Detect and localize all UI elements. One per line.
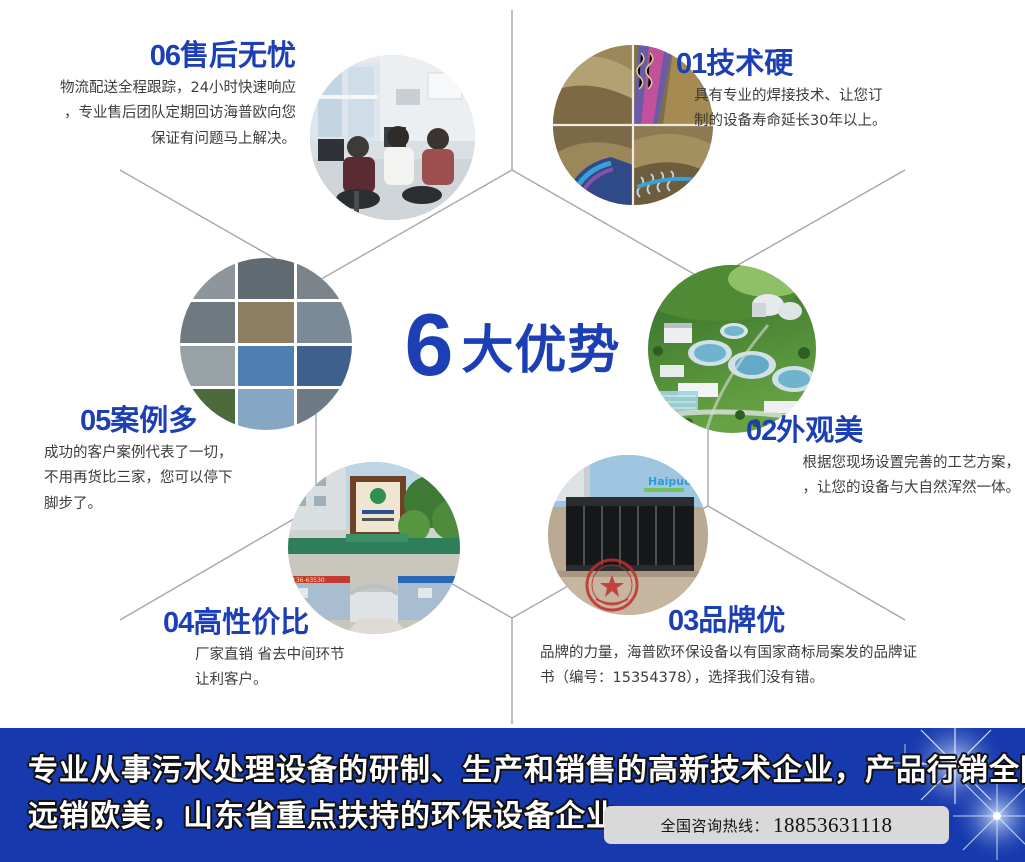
feature-05-desc-line: 脚步了。 [44, 492, 344, 517]
feature-05-name: 案例多 [110, 403, 197, 437]
feature-01-name: 技术硬 [706, 46, 793, 80]
photo-black-tank-equipment: Haipuou [548, 455, 708, 615]
feature-06-desc: 物流配送全程跟踪，24小时快速响应 ，专业售后团队定期回访海普欧向您 保证有问题… [4, 76, 296, 152]
feature-06-desc-line: 保证有问题马上解决。 [4, 127, 296, 152]
plant-aerial-art [648, 265, 816, 433]
feature-01-desc: 具有专业的焊接技术、让您订 制的设备寿命延长30年以上。 [694, 84, 996, 135]
feature-06-desc-line: 物流配送全程跟踪，24小时快速响应 [4, 76, 296, 101]
office-photo-art [310, 55, 475, 220]
feature-03-number: 03 [668, 605, 698, 637]
feature-02: 02外观美 根据您现场设置完善的工艺方案， ，让您的设备与大自然浑然一体。 [690, 415, 1020, 502]
feature-03-desc-line: 书（编号：15354378），选择我们没有错。 [540, 666, 1010, 691]
photo-office-staff [310, 55, 475, 220]
hotline-number: 18853631118 [773, 813, 892, 838]
feature-05-desc-line: 成功的客户案例代表了一切， [44, 441, 344, 466]
feature-04-name: 高性价比 [193, 605, 309, 639]
feature-06-name: 售后无忧 [180, 38, 296, 72]
feature-02-number: 02 [746, 415, 776, 447]
feature-02-desc-line: ，让您的设备与大自然浑然一体。 [690, 476, 1020, 501]
feature-04-desc-line: 让利客户。 [195, 668, 493, 693]
feature-04-title: 04高性价比 [163, 607, 493, 640]
feature-05-desc: 成功的客户案例代表了一切， 不用再货比三家，您可以停下 脚步了。 [44, 441, 344, 517]
feature-02-name: 外观美 [776, 413, 863, 447]
feature-01: 01技术硬 具有专业的焊接技术、让您订 制的设备寿命延长30年以上。 [676, 48, 996, 135]
feature-06: 06售后无忧 物流配送全程跟踪，24小时快速响应 ，专业售后团队定期回访海普欧向… [4, 40, 296, 152]
feature-01-title: 01技术硬 [676, 48, 996, 81]
feature-04-desc: 厂家直销 省去中间环节 让利客户。 [195, 643, 493, 694]
feature-05: 05案例多 成功的客户案例代表了一切， 不用再货比三家，您可以停下 脚步了。 [44, 405, 344, 517]
feature-05-title: 05案例多 [44, 405, 344, 438]
feature-05-number: 05 [80, 405, 110, 437]
feature-03: 03品牌优 品牌的力量，海普欧环保设备以有国家商标局案发的品牌证 书（编号：15… [540, 605, 1010, 692]
feature-04-desc-line: 厂家直销 省去中间环节 [195, 643, 493, 668]
banner-line-1: 专业从事污水处理设备的研制、生产和销售的高新技术企业，产品行销全国并 [28, 748, 628, 794]
feature-06-desc-line: ，专业售后团队定期回访海普欧向您 [4, 101, 296, 126]
feature-01-desc-line: 制的设备寿命延长30年以上。 [694, 109, 996, 134]
feature-03-desc: 品牌的力量，海普欧环保设备以有国家商标局案发的品牌证 书（编号：15354378… [540, 641, 1010, 692]
feature-03-title: 03品牌优 [540, 605, 1010, 638]
feature-02-desc: 根据您现场设置完善的工艺方案， ，让您的设备与大自然浑然一体。 [690, 451, 1020, 502]
center-big-number: 6 [405, 305, 452, 384]
center-label: 大优势 [461, 308, 620, 383]
infographic-root: Haipuou [0, 0, 1025, 862]
banner-line-2: 远销欧美，山东省重点扶持的环保设备企业。 [28, 794, 628, 840]
hotline-badge[interactable]: 全国咨询热线： 18853631118 [604, 806, 949, 844]
feature-05-desc-line: 不用再货比三家，您可以停下 [44, 466, 344, 491]
feature-02-desc-line: 根据您现场设置完善的工艺方案， [690, 451, 1020, 476]
feature-04: 04高性价比 厂家直销 省去中间环节 让利客户。 [163, 607, 493, 694]
feature-06-title: 06售后无忧 [4, 40, 296, 73]
feature-04-number: 04 [163, 607, 193, 639]
center-headline: 6 大优势 [380, 295, 645, 395]
photo-wastewater-plant-aerial [648, 265, 816, 433]
feature-03-desc-line: 品牌的力量，海普欧环保设备以有国家商标局案发的品牌证 [540, 641, 1010, 666]
svg-text:136-63530: 136-63530 [292, 577, 325, 584]
feature-02-title: 02外观美 [690, 415, 1020, 448]
hotline-label: 全国咨询热线： [661, 815, 770, 836]
banner-text: 专业从事污水处理设备的研制、生产和销售的高新技术企业，产品行销全国并 远销欧美，… [28, 748, 628, 839]
feature-03-name: 品牌优 [698, 603, 785, 637]
feature-06-number: 06 [150, 40, 180, 72]
feature-01-number: 01 [676, 48, 706, 80]
feature-01-desc-line: 具有专业的焊接技术、让您订 [694, 84, 996, 109]
tank-photo-art: Haipuou [548, 455, 708, 615]
